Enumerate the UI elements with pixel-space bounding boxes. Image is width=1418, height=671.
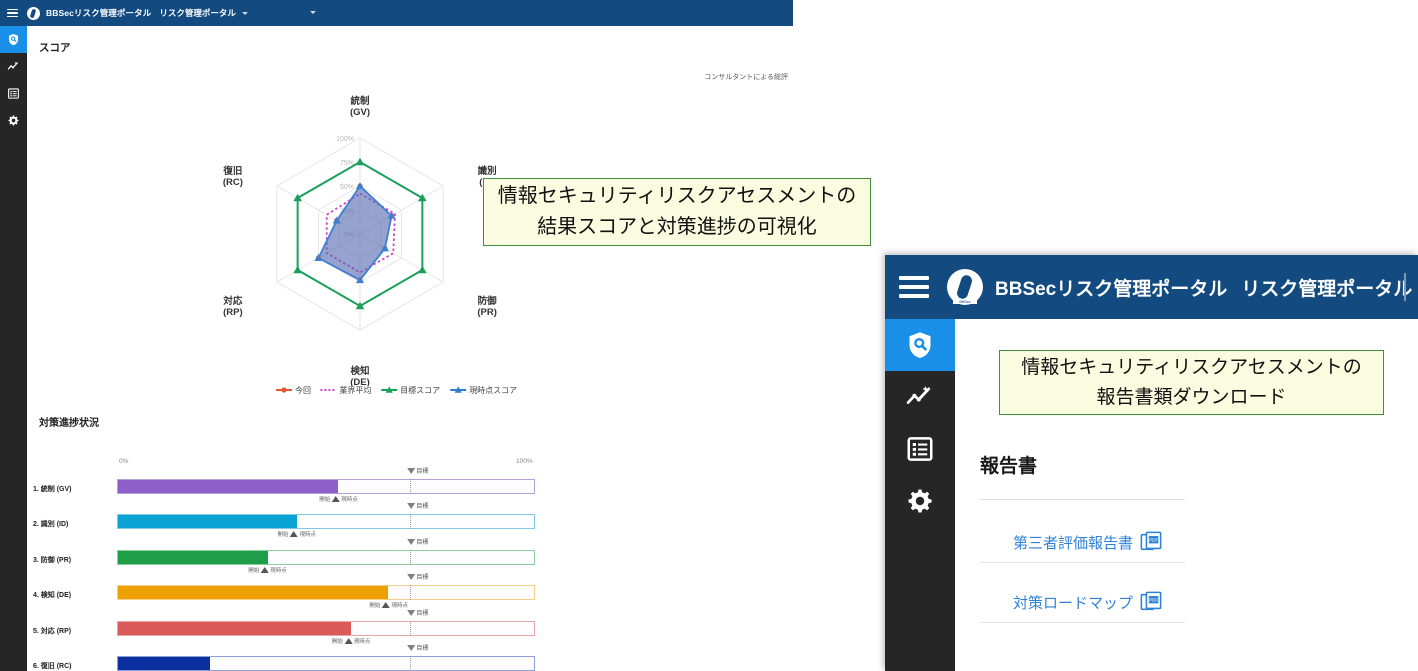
target-line [410,479,411,494]
back-window-content: スコア コンサルタントによる総評 0%25%50%75%100% 統制(GV)識… [27,26,793,671]
chevron-down-icon[interactable] [242,12,248,15]
callout-line-1: 情報セキュリティリスクアセスメントの [1021,353,1361,383]
target-line [410,550,411,565]
progress-row: 1. 統制 (GV) 目標開始 現時点 [27,473,567,508]
svg-text:50%: 50% [340,184,354,191]
shield-search-icon [905,330,935,360]
progress-row-label: 4. 検知 (DE) [33,590,113,600]
header-divider [1404,273,1406,301]
svg-text:防御: 防御 [478,295,498,307]
sidebar-item-analytics[interactable] [0,53,27,80]
progress-fill [118,622,351,635]
progress-fill [118,480,338,493]
gear-icon [905,486,935,516]
svg-text:(PR): (PR) [477,307,497,318]
activity-chart-icon [905,382,935,412]
svg-text:検知: 検知 [350,365,369,377]
axis-label-min: 0% [119,458,128,465]
svg-text:業界平均: 業界平均 [339,385,371,395]
svg-text:(RC): (RC) [223,177,243,188]
front-sidebar [885,319,955,671]
radar-legend: 今回業界平均目標スコア現時点スコア [272,382,572,398]
svg-text:今回: 今回 [295,385,311,395]
target-line [410,621,411,636]
sidebar-item-list[interactable] [0,80,27,107]
svg-text:統制: 統制 [350,95,370,107]
svg-text:識別: 識別 [478,165,497,177]
current-marker: 開始 現時点 [319,495,358,503]
progress-row: 6. 復旧 (RC) 目標開始 現時点 [27,650,567,671]
app-title: BBSecリスク管理ポータル [995,274,1227,301]
report-link-label: 対策ロードマップ [1013,592,1133,613]
sidebar-item-assessment[interactable] [0,26,27,53]
front-window-topbar: BBSec BBSecリスク管理ポータル リスク管理ポータル [885,255,1418,319]
callout-line-2: 報告書類ダウンロード [1096,383,1286,413]
back-window-topbar: BBSecリスク管理ポータル リスク管理ポータル [0,0,793,26]
target-marker: 目標 [407,608,429,617]
portal-subtitle: リスク管理ポータル [1241,274,1412,301]
back-sidebar [0,26,27,671]
sidebar-item-analytics[interactable] [885,371,955,423]
progress-track [117,621,535,636]
sidebar-item-list[interactable] [885,423,955,475]
svg-text:対応: 対応 [222,295,243,307]
shield-search-icon [7,33,20,46]
axis-label-max: 100% [516,458,533,465]
progress-bars: 0% 100% 1. 統制 (GV) 目標開始 現時点2. 識別 (ID) 目標… [27,438,567,671]
progress-track [117,514,535,529]
callout-score-visualization: 情報セキュリティリスクアセスメントの 結果スコアと対策進捗の可視化 [483,178,871,246]
callout-line-2: 結果スコアと対策進捗の可視化 [537,212,817,243]
divider [980,562,1185,563]
risk-portal-window-back: BBSecリスク管理ポータル リスク管理ポータル [0,0,793,671]
progress-row-label: 1. 統制 (GV) [33,484,113,494]
svg-text:現時点スコア: 現時点スコア [469,386,517,395]
progress-row-label: 2. 識別 (ID) [33,519,113,529]
bbsec-logo-icon: BBSec [947,269,983,305]
report-link-third-party-evaluation[interactable]: 第三者評価報告書 PDF [1013,531,1162,553]
report-link-roadmap[interactable]: 対策ロードマップ PDF [1013,591,1162,613]
progress-fill [118,551,268,564]
progress-section-title: 対策進捗状況 [39,414,99,429]
target-marker: 目標 [407,643,429,652]
target-marker: 目標 [407,537,429,546]
target-marker: 目標 [407,466,429,475]
hamburger-icon[interactable] [899,276,929,298]
score-heading: スコア [39,40,71,55]
activity-chart-icon [7,60,20,73]
progress-track [117,479,535,494]
chevron-down-icon-secondary[interactable] [310,11,316,14]
progress-track [117,585,535,600]
bbsec-logo-icon [27,7,40,20]
progress-track [117,550,535,565]
progress-fill [118,515,297,528]
consultant-note: コンサルタントによる総評 [704,72,788,82]
gear-icon [7,114,20,127]
svg-text:(GV): (GV) [350,107,370,118]
report-heading: 報告書 [980,451,1037,478]
report-link-label: 第三者評価報告書 [1013,532,1133,553]
progress-row: 5. 対応 (RP) 目標開始 現時点 [27,615,567,650]
progress-row-label: 5. 対応 (RP) [33,626,113,636]
target-line [410,514,411,529]
svg-text:(RP): (RP) [223,307,243,318]
target-marker: 目標 [407,572,429,581]
list-table-icon [905,434,935,464]
svg-text:PDF: PDF [1149,598,1158,603]
progress-row: 4. 検知 (DE) 目標開始 現時点 [27,579,567,614]
svg-text:100%: 100% [336,136,354,143]
progress-row-label: 6. 復旧 (RC) [33,661,113,671]
list-table-icon [7,87,20,100]
progress-track [117,656,535,671]
svg-text:復旧: 復旧 [222,165,242,177]
callout-line-1: 情報セキュリティリスクアセスメントの [498,181,856,212]
sidebar-item-settings[interactable] [885,475,955,527]
pdf-file-icon: PDF [1140,591,1162,613]
svg-text:目標スコア: 目標スコア [400,385,440,395]
progress-fill [118,586,388,599]
portal-subtitle: リスク管理ポータル [159,7,236,19]
hamburger-icon[interactable] [7,9,18,18]
progress-row-label: 3. 防御 (PR) [33,555,113,565]
progress-row: 3. 防御 (PR) 目標開始 現時点 [27,544,567,579]
svg-text:PDF: PDF [1149,538,1158,543]
current-marker: 開始 現時点 [332,637,371,645]
logo-caption: BBSec [953,299,977,304]
target-line [410,585,411,600]
sidebar-item-settings[interactable] [0,107,27,134]
target-line [410,656,411,671]
target-marker: 目標 [407,501,429,510]
current-marker: 開始 現時点 [369,601,408,609]
callout-report-download: 情報セキュリティリスクアセスメントの 報告書類ダウンロード [999,350,1384,415]
current-marker: 開始 現時点 [248,566,287,574]
progress-fill [118,657,210,670]
progress-row: 2. 識別 (ID) 目標開始 現時点 [27,508,567,543]
divider [980,622,1185,623]
current-marker: 開始 現時点 [277,530,316,538]
app-title: BBSecリスク管理ポータル [46,7,151,19]
divider [980,499,1185,500]
risk-portal-window-front: BBSec BBSecリスク管理ポータル リスク管理ポータル [885,255,1418,671]
sidebar-item-assessment[interactable] [885,319,955,371]
pdf-file-icon: PDF [1140,531,1162,553]
